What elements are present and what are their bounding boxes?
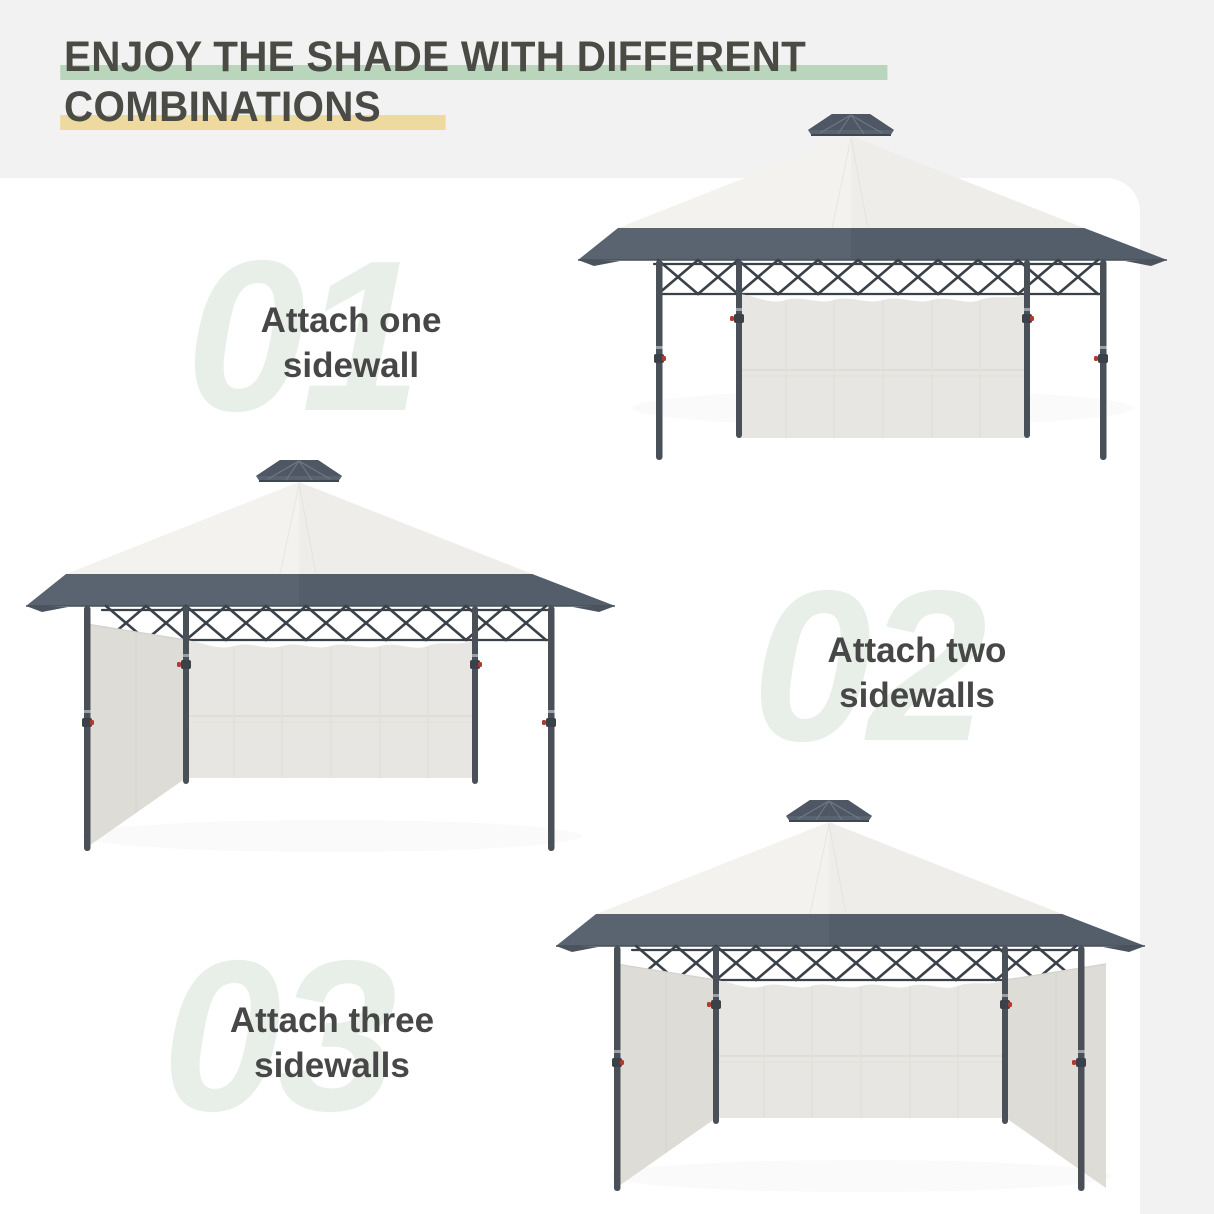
sidewall-back (716, 980, 1006, 1118)
frame-truss (632, 946, 1080, 980)
step-label-03: 03 Attach three sidewalls (162, 936, 502, 1136)
frame-truss (102, 606, 550, 640)
roof-vent-cap (256, 460, 342, 482)
step-caption-03: Attach three sidewalls (162, 998, 502, 1088)
sidewall-left (616, 964, 716, 1188)
title-line-1-text: ENJOY THE SHADE WITH DIFFERENT (64, 33, 806, 81)
step-caption-01: Attach one sidewall (186, 298, 516, 388)
product-image-gazebo-three-sidewalls (558, 788, 1164, 1208)
step-caption-02: Attach two sidewalls (752, 628, 1082, 718)
roof-vent-cap (786, 800, 872, 822)
roof-vent-cap (808, 114, 894, 136)
sidewall-back (740, 294, 1028, 438)
title-line-2-text: COMBINATIONS (64, 83, 381, 131)
step-label-02: 02 Attach two sidewalls (752, 566, 1082, 766)
canopy-upper (66, 482, 532, 574)
frame-truss (654, 260, 1102, 294)
infographic-stage: ENJOY THE SHADE WITH DIFFERENT COMBINATI… (0, 0, 1214, 1214)
canopy-upper (618, 136, 1084, 228)
sidewall-back (186, 640, 476, 778)
product-image-gazebo-one-sidewall (580, 108, 1186, 468)
product-image-gazebo-two-sidewalls (28, 448, 634, 868)
sidewall-right (1006, 964, 1106, 1188)
canopy-eave-band (26, 574, 615, 612)
step-label-01: 01 Attach one sidewall (186, 236, 516, 436)
sidewall-left (86, 624, 186, 848)
canopy-eave-band (556, 914, 1145, 952)
canopy-eave-band (578, 228, 1167, 266)
canopy-upper (596, 822, 1062, 914)
title-line-1: ENJOY THE SHADE WITH DIFFERENT (64, 32, 1004, 82)
